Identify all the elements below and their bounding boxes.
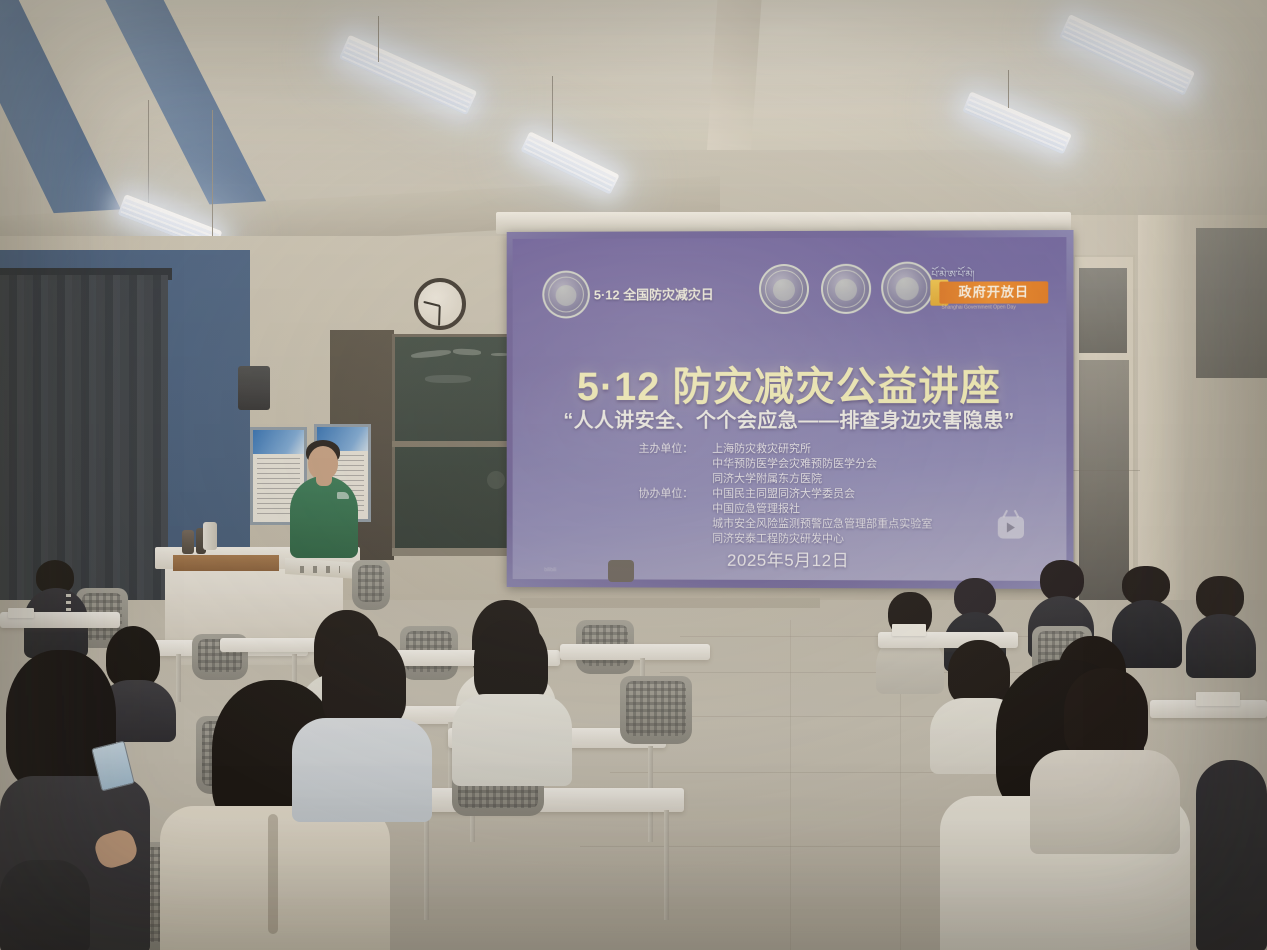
desk xyxy=(560,644,710,660)
gov-badge-text: 政府开放日 xyxy=(939,281,1048,303)
attendee-white-shirt-mid xyxy=(292,634,432,814)
co-organizer-value: 中国应急管理报社 xyxy=(712,502,938,517)
attendee-grey-right xyxy=(1030,668,1180,848)
seal-disaster-day xyxy=(542,271,590,319)
organizer-group: 同济大学附属东方医院 xyxy=(639,472,939,487)
disaster-day-label: 5·12 全国防灾减灾日 xyxy=(594,284,714,303)
gov-badge-tibetan: པོ་མེ་ཨ་པོ་མེ། xyxy=(931,263,1050,281)
right-window xyxy=(1196,228,1267,378)
projection-screen: 5·12 全国防灾减灾日 པོ་མེ་ཨ་པོ་མེ། 政府开放日 Shangh… xyxy=(507,230,1074,589)
seal-tongji-university xyxy=(759,264,809,314)
slide-date: 2025年5月12日 xyxy=(513,545,1067,572)
attendee-mid-dark xyxy=(452,620,572,780)
slide-surface: 5·12 全国防灾减灾日 པོ་མེ་ཨ་པོ་མེ། 政府开放日 Shangh… xyxy=(513,237,1067,581)
paper xyxy=(8,608,34,618)
organizer-key: 主办单位： xyxy=(639,442,713,457)
gov-open-day-badge: པོ་མེ་ཨ་པོ་མེ། 政府开放日 Shanghai Government… xyxy=(931,263,1050,315)
shirt-logo xyxy=(337,492,349,499)
gov-badge-subtext: Shanghai Government Open Day xyxy=(941,304,1046,312)
chair[interactable] xyxy=(352,560,390,610)
chair[interactable] xyxy=(608,560,634,582)
slide-organizers: 主办单位： 上海防灾救灾研究所 中华预防医学会灾难预防医学分会 同济大学附属东方… xyxy=(513,442,1067,548)
seal-east-hospital xyxy=(881,262,933,314)
organizer-group: 主办单位： 上海防灾救灾研究所 xyxy=(639,442,939,457)
wall-speaker xyxy=(238,366,270,410)
lectern-wood-trim xyxy=(173,555,279,571)
slide-logo-row: 5·12 全国防灾减灾日 པོ་མེ་ཨ་པོ་མེ། 政府开放日 Shangh… xyxy=(538,263,1052,322)
wall-clock xyxy=(414,278,466,330)
chair[interactable] xyxy=(620,676,692,744)
organizer-value: 同济大学附属东方医院 xyxy=(712,472,938,487)
co-organizer-group: 城市安全风险监测预警应急管理部重点实验室 xyxy=(639,517,939,533)
attendee-right-back-4 xyxy=(1186,576,1256,676)
presenter xyxy=(290,440,360,560)
co-organizer-group: 协办单位： 中国民主同盟同济大学委员会 xyxy=(639,487,939,503)
desk xyxy=(404,788,684,812)
paper xyxy=(892,624,926,636)
door-transom-window xyxy=(1079,268,1127,353)
bag-strap xyxy=(268,814,278,934)
presenter-shirt xyxy=(290,476,358,558)
co-organizer-value: 中国民主同盟同济大学委员会 xyxy=(712,487,938,502)
seal-institute xyxy=(821,264,871,314)
co-organizer-value: 城市安全风险监测预警应急管理部重点实验室 xyxy=(712,517,938,533)
lectern-ports xyxy=(300,566,340,573)
attendee-foreground-left xyxy=(0,860,90,950)
bottle-left xyxy=(182,530,194,554)
lecture-hall-photo: 5·12 全国防灾减灾日 པོ་མེ་ཨ་པོ་མེ། 政府开放日 Shangh… xyxy=(0,0,1267,950)
slide-subtitle: “人人讲安全、个个会应急——排查身边灾害隐患” xyxy=(513,404,1067,433)
water-tumbler xyxy=(203,522,217,550)
slide-footnote: bilibili xyxy=(544,567,556,573)
attendee-far-right-edge xyxy=(1196,720,1267,950)
chalk-ledge-upper xyxy=(392,441,525,447)
co-organizer-key: 协办单位： xyxy=(639,487,713,502)
paper xyxy=(1196,692,1240,706)
organizer-group: 中华预防医学会灾难预防医学分会 xyxy=(639,457,939,472)
organizer-value: 上海防灾救灾研究所 xyxy=(712,442,938,457)
co-organizer-group: 中国应急管理报社 xyxy=(639,502,939,518)
organizer-value: 中华预防医学会灾难预防医学分会 xyxy=(712,457,938,472)
play-triangle-icon xyxy=(1007,522,1015,532)
bilibili-tv-icon xyxy=(998,516,1024,538)
